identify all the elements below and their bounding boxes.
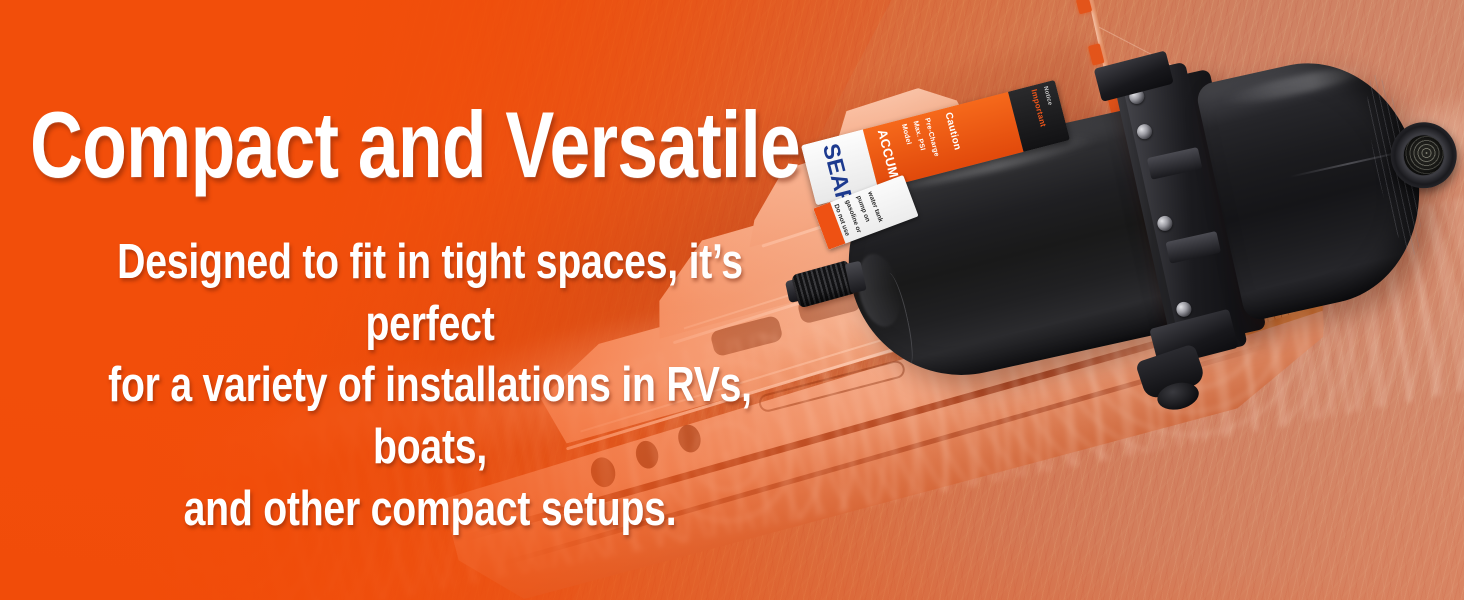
subheading-line-2: for a variety of installations in RVs, b… xyxy=(94,355,766,478)
label-meta-1: Model xyxy=(900,123,912,145)
label-important-sub: Notice xyxy=(1042,86,1053,106)
subheading-line-1: Designed to fit in tight spaces, it’s pe… xyxy=(94,232,766,355)
page-title: Compact and Versatile xyxy=(30,100,800,190)
product-image: SEAFLO ACCUMULATOR TANK Model Max. PSI P… xyxy=(838,112,1464,512)
mast-navigation-light xyxy=(1076,0,1092,14)
banner-copy: Compact and Versatile Designed to fit in… xyxy=(0,0,860,600)
label-caution-text: Caution xyxy=(942,111,962,151)
subheading-line-3: and other compact setups. xyxy=(94,479,766,541)
subheading: Designed to fit in tight spaces, it’s pe… xyxy=(10,232,850,541)
label-meta-3: Pre-Charge xyxy=(923,117,940,157)
hero-banner: SEAFLO ACCUMULATOR TANK Model Max. PSI P… xyxy=(0,0,1464,600)
